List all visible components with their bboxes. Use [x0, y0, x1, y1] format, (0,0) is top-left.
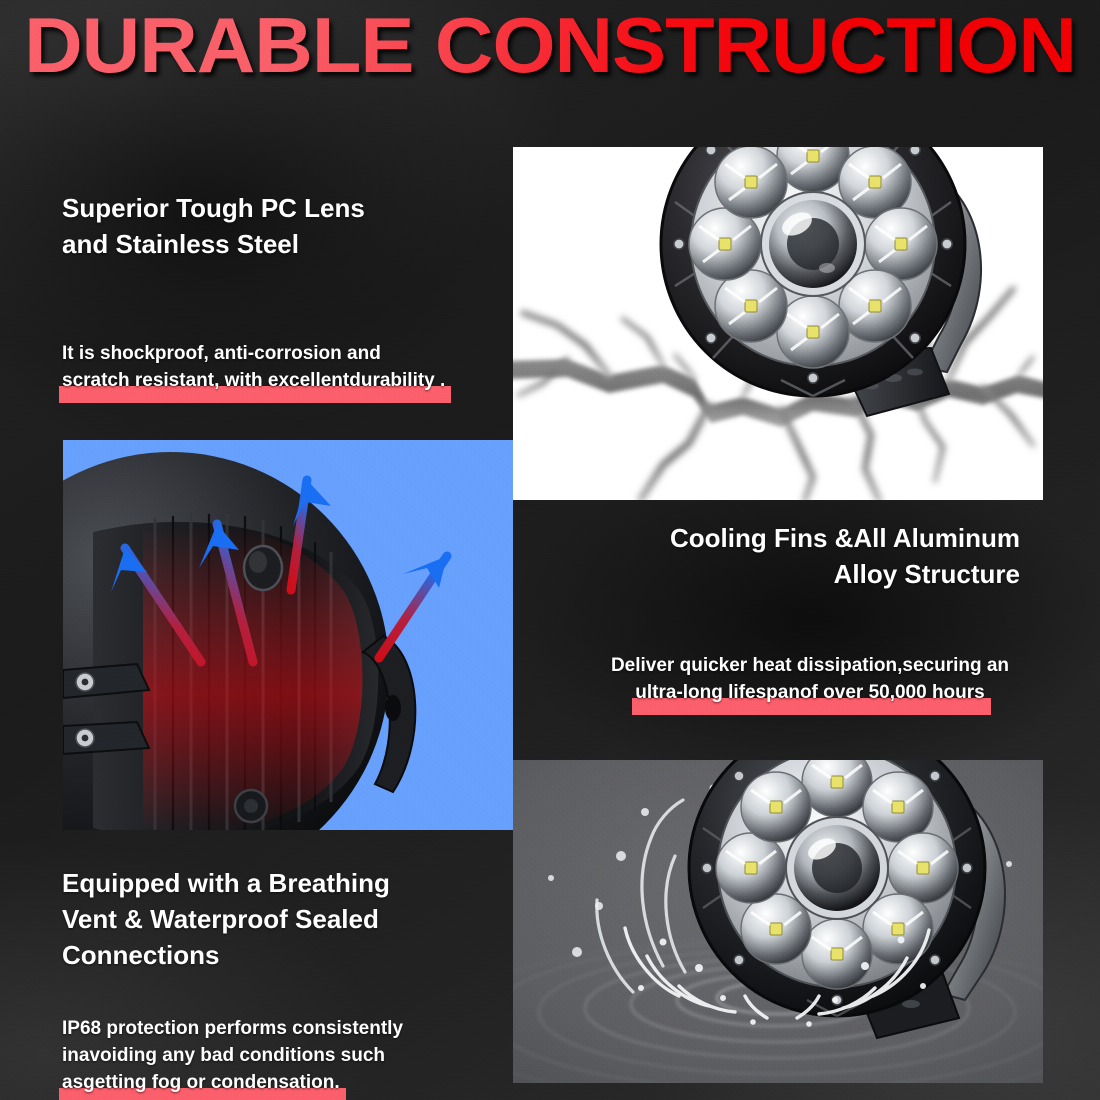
water-splash-illustration	[513, 760, 1043, 1083]
panel-cracked-ground	[513, 147, 1043, 500]
highlight-bar: scratch resistant, with excellentdurabil…	[62, 367, 445, 394]
feature-heading-pc-lens: Superior Tough PC Lens and Stainless Ste…	[62, 190, 492, 262]
highlight-bar: asgetting fog or condensation.	[62, 1069, 340, 1096]
highlight-bar: ultra-long lifespanof over 50,000 hours	[635, 679, 984, 706]
feature-body-breathing-vent: IP68 protection performs consistently in…	[62, 1015, 492, 1096]
feature-body-cooling-fins: Deliver quicker heat dissipation,securin…	[600, 652, 1020, 706]
cooling-fins-illustration	[63, 440, 513, 830]
feature-heading-cooling-fins: Cooling Fins &All Aluminum Alloy Structu…	[600, 520, 1020, 592]
feature-block-cooling-fins: Cooling Fins &All Aluminum Alloy Structu…	[600, 520, 1020, 706]
feature-heading-breathing-vent: Equipped with a Breathing Vent & Waterpr…	[62, 865, 492, 973]
feature-block-pc-lens: Superior Tough PC Lens and Stainless Ste…	[62, 190, 492, 394]
led-light-front-cracked	[631, 147, 1043, 492]
feature-block-breathing-vent: Equipped with a Breathing Vent & Waterpr…	[62, 865, 492, 1096]
product-infographic: DURABLE CONSTRUCTION	[0, 0, 1100, 1100]
panel-waterproof	[513, 760, 1043, 1083]
panel-heat-dissipation	[63, 440, 513, 830]
feature-body-pc-lens: It is shockproof, anti-corrosion and scr…	[62, 340, 492, 394]
page-title: DURABLE CONSTRUCTION	[0, 2, 1100, 88]
